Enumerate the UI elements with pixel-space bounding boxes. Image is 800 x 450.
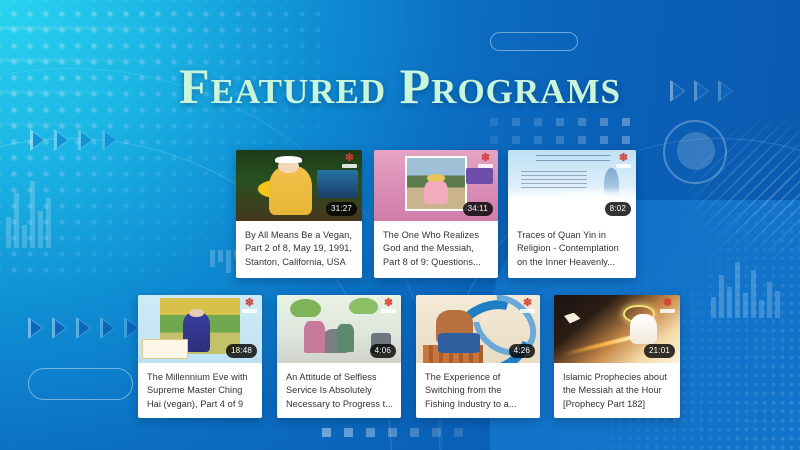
program-card[interactable]: ✽ 21:01 Islamic Prophecies about the Mes… xyxy=(554,295,680,418)
card-title-line: Switching from the xyxy=(425,384,532,397)
duration-badge: 8:02 xyxy=(605,202,631,216)
card-title-line: Religion - Contemplation xyxy=(517,242,628,255)
card-title: By All Means Be a Vegan, Part 2 of 8, Ma… xyxy=(236,221,362,278)
program-card[interactable]: ✽ 18:48 The Millennium Eve with Supreme … xyxy=(138,295,262,418)
duration-badge: 21:01 xyxy=(644,344,675,358)
card-title-line: The One Who Realizes xyxy=(383,229,490,242)
card-title-line: The Experience of xyxy=(425,371,532,384)
circle-fill-decoration xyxy=(677,132,715,170)
channel-logo-icon: ✽ xyxy=(519,298,536,314)
card-title-line: Traces of Quan Yin in xyxy=(517,229,628,242)
card-title-line: Fishing Industry to a... xyxy=(425,398,532,411)
channel-logo-icon: ✽ xyxy=(341,153,358,169)
program-card[interactable]: ✽ 34:11 The One Who Realizes God and the… xyxy=(374,150,498,278)
diagonal-hatch-decoration xyxy=(684,118,800,258)
program-card[interactable]: ✽ 8:02 Traces of Quan Yin in Religion - … xyxy=(508,150,636,278)
duration-badge: 18:48 xyxy=(226,344,257,358)
card-title-line: Service Is Absolutely xyxy=(286,384,393,397)
card-thumbnail[interactable]: ✽ 21:01 xyxy=(554,295,680,363)
card-title: An Attitude of Selfless Service Is Absol… xyxy=(277,363,401,418)
duration-badge: 4:26 xyxy=(509,344,535,358)
card-title-line: Necessary to Progress t... xyxy=(286,398,393,411)
duration-badge: 31:27 xyxy=(326,202,357,216)
card-title: The Millennium Eve with Supreme Master C… xyxy=(138,363,262,418)
duration-badge: 34:11 xyxy=(463,202,493,216)
card-thumbnail[interactable]: ✽ 18:48 xyxy=(138,295,262,363)
square-dots-grid xyxy=(490,118,644,154)
card-thumbnail[interactable]: ✽ 31:27 xyxy=(236,150,362,221)
card-title: Traces of Quan Yin in Religion - Contemp… xyxy=(508,221,636,278)
square-dots-row-bottom xyxy=(322,428,463,437)
card-title: Islamic Prophecies about the Messiah at … xyxy=(554,363,680,418)
card-thumbnail[interactable]: ✽ 34:11 xyxy=(374,150,498,221)
card-thumbnail[interactable]: ✽ 4:06 xyxy=(277,295,401,363)
channel-logo-icon: ✽ xyxy=(659,298,676,314)
card-title-line: Supreme Master Ching xyxy=(147,384,254,397)
card-title-line: An Attitude of Selfless xyxy=(286,371,393,384)
card-title-line: the Messiah at the Hour xyxy=(563,384,672,397)
card-title: The One Who Realizes God and the Messiah… xyxy=(374,221,498,278)
card-title: The Experience of Switching from the Fis… xyxy=(416,363,540,418)
card-title-line: Hai (vegan), Part 4 of 9 xyxy=(147,398,254,411)
page-title: Featured Programs xyxy=(0,61,800,111)
equalizer-bars-left xyxy=(6,170,51,248)
card-title-line: [Prophecy Part 182] xyxy=(563,398,672,411)
channel-logo-icon: ✽ xyxy=(615,153,632,169)
duration-badge: 4:06 xyxy=(370,344,396,358)
card-title-line: on the Inner Heavenly... xyxy=(517,256,628,269)
channel-logo-icon: ✽ xyxy=(477,153,494,169)
card-title-line: Part 2 of 8, May 19, 1991, xyxy=(245,242,354,255)
card-title-line: Stanton, California, USA xyxy=(245,256,354,269)
pill-outline-bottom xyxy=(28,368,133,400)
channel-logo-icon: ✽ xyxy=(241,298,258,314)
circle-ring-decoration xyxy=(663,120,727,184)
channel-logo-icon: ✽ xyxy=(380,298,397,314)
card-thumbnail[interactable]: ✽ 4:26 xyxy=(416,295,540,363)
card-thumbnail[interactable]: ✽ 8:02 xyxy=(508,150,636,221)
equalizer-bars-right xyxy=(711,248,780,318)
card-title-line: Islamic Prophecies about xyxy=(563,371,672,384)
card-title-line: By All Means Be a Vegan, xyxy=(245,229,354,242)
card-title-line: God and the Messiah, xyxy=(383,242,490,255)
triangle-arrows-upper-left xyxy=(30,129,117,151)
featured-programs-screen: Featured Programs ✽ 31:27 By All Means B… xyxy=(0,0,800,450)
card-title-line: Part 8 of 9: Questions... xyxy=(383,256,490,269)
triangle-arrows-lower-left xyxy=(28,317,139,339)
program-card[interactable]: ✽ 4:26 The Experience of Switching from … xyxy=(416,295,540,418)
card-title-line: The Millennium Eve with xyxy=(147,371,254,384)
program-card[interactable]: ✽ 4:06 An Attitude of Selfless Service I… xyxy=(277,295,401,418)
pill-outline-top xyxy=(490,32,578,51)
program-card[interactable]: ✽ 31:27 By All Means Be a Vegan, Part 2 … xyxy=(236,150,362,278)
